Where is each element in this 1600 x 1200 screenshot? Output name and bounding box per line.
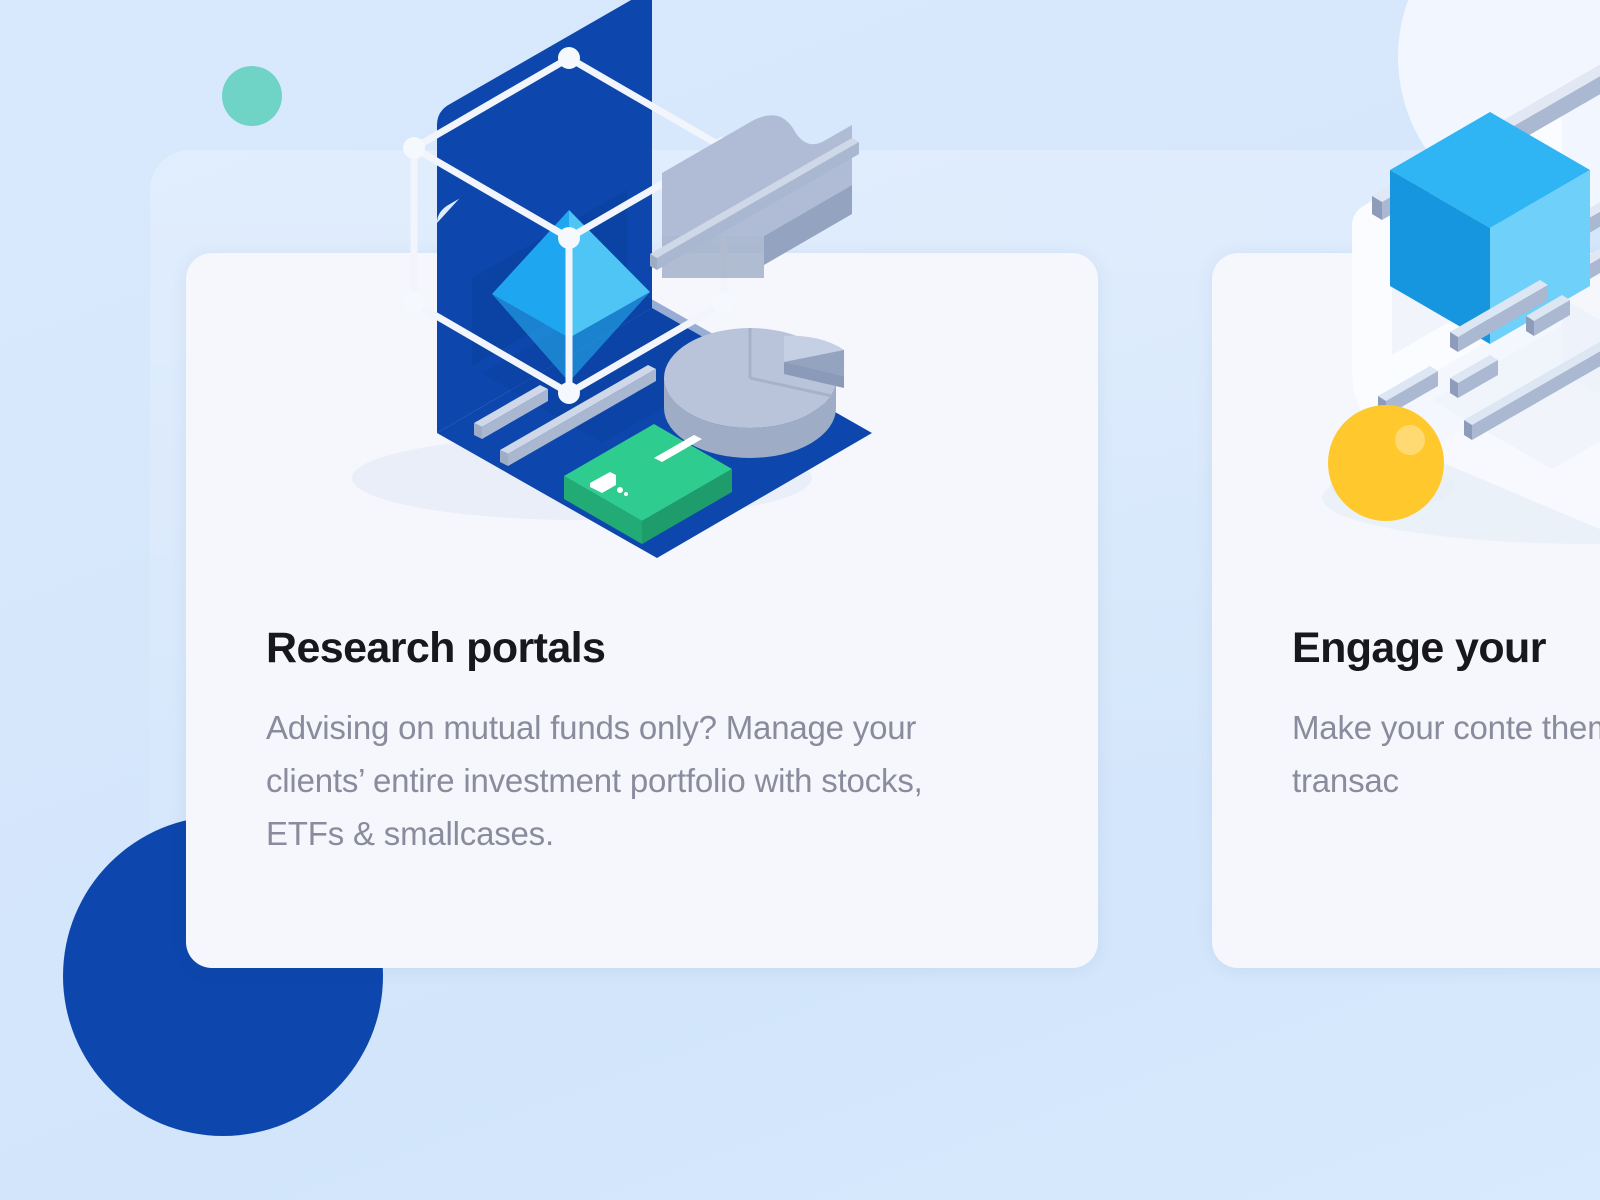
card-2-title: Engage your [1292,625,1600,672]
engage-clients-isometric-illustration [1232,0,1600,568]
card-2-description: Make your conte themes & strateg bedding… [1292,702,1600,808]
card-research-portals[interactable]: Research portals Advising on mutual fund… [186,253,1098,968]
card-2-body: Engage your Make your conte themes & str… [1292,625,1600,968]
card-engage-your-clients[interactable]: Engage your Make your conte themes & str… [1212,253,1600,968]
page-title: Research portals [266,625,1018,672]
card-1-body: Research portals Advising on mutual fund… [266,625,1018,968]
card-1-description: Advising on mutual funds only? Manage yo… [266,702,978,860]
research-portal-isometric-illustration [332,0,952,558]
illustration-clip-2 [1212,73,1600,683]
page-root: Research portals Advising on mutual fund… [0,0,1600,1200]
illustration-clip-1 [186,73,1098,683]
